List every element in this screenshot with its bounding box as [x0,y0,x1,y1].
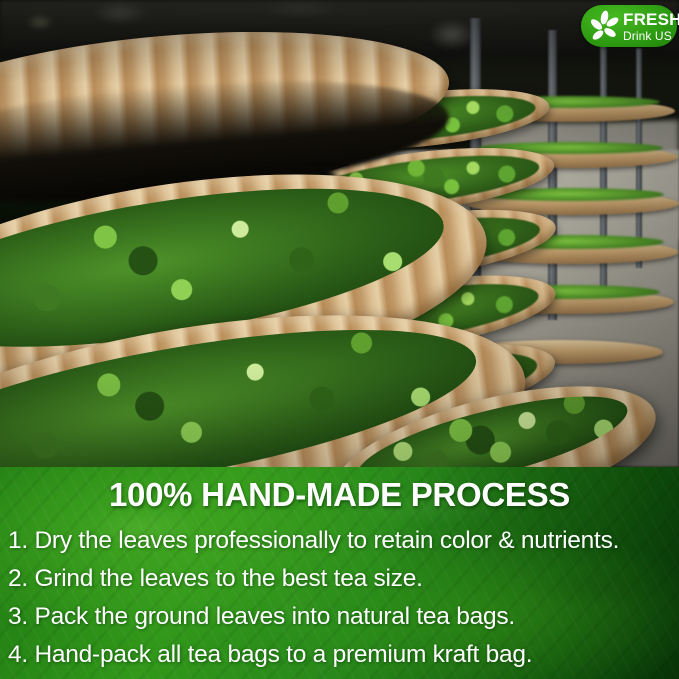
panel-headline: 100% HAND-MADE PROCESS [0,476,679,514]
process-panel: 100% HAND-MADE PROCESS 1. Dry the leaves… [0,467,679,679]
tea-drying-photo [0,0,679,467]
rack-post [548,30,557,320]
process-step: 4. Hand-pack all tea bags to a premium k… [8,636,676,674]
logo-brand-primary: FRESH [623,11,679,28]
leaf-cluster-icon [587,9,621,43]
brand-logo[interactable]: FRESH Drink US [581,5,677,47]
product-infographic: FRESH Drink US 100% HAND-MADE PROCESS 1.… [0,0,679,679]
process-steps-list: 1. Dry the leaves professionally to reta… [8,522,676,674]
process-step: 2. Grind the leaves to the best tea size… [8,560,676,598]
logo-brand-secondary: Drink US [623,30,679,42]
process-step: 1. Dry the leaves professionally to reta… [8,522,676,560]
logo-wordmark: FRESH Drink US [623,11,679,42]
process-step: 3. Pack the ground leaves into natural t… [8,598,676,636]
